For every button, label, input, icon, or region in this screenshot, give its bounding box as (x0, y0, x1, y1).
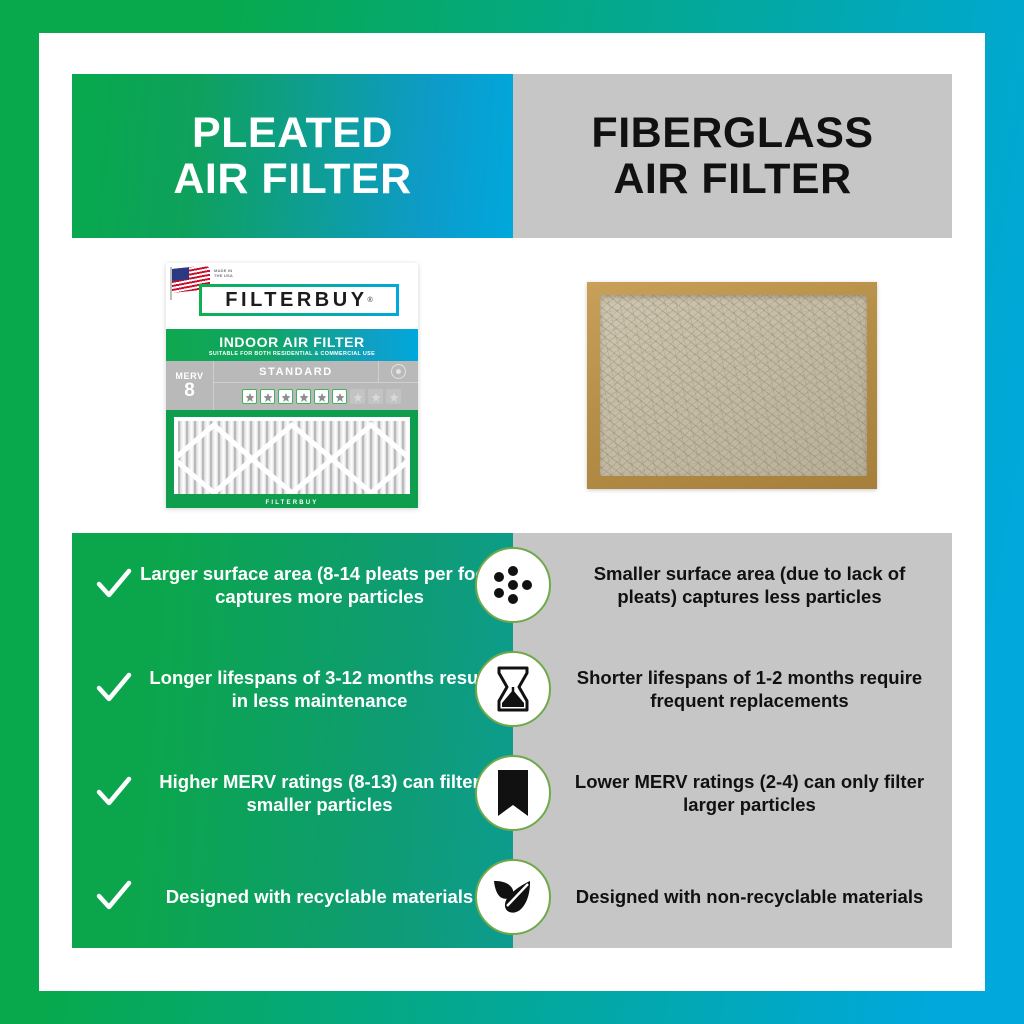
table-row: Designed with recyclable materials Desig… (72, 845, 952, 949)
row-4-right-text: Designed with non-recyclable materials (513, 885, 952, 908)
filterbuy-logo-box: FILTERBUY® (199, 284, 399, 316)
capability-icon-pet-dander (332, 389, 347, 404)
capability-icon-mold (278, 389, 293, 404)
grade-row: STANDARD (214, 361, 418, 383)
pleated-filter-header: MADE IN THE USA FILTERBUY® (166, 263, 418, 329)
pleated-product-cell: MADE IN THE USA FILTERBUY® INDOOR AIR FI… (72, 238, 512, 533)
capability-icon-allergen-disabled (386, 389, 401, 404)
check-icon (94, 669, 134, 709)
header-fiberglass: FIBERGLASS AIR FILTER (513, 74, 952, 238)
band-sub-text: SUITABLE FOR BOTH RESIDENTIAL & COMMERCI… (209, 351, 375, 357)
filterbuy-logo-text: FILTERBUY (225, 289, 367, 312)
header-band: PLEATED AIR FILTER FIBERGLASS AIR FILTER (72, 74, 952, 238)
check-icon (94, 565, 134, 605)
product-image-band: MADE IN THE USA FILTERBUY® INDOOR AIR FI… (72, 238, 952, 533)
capability-icon-dust (242, 389, 257, 404)
capability-icon-virus-disabled (368, 389, 383, 404)
merv-badge: MERV 8 (166, 361, 214, 410)
row-2-left-text: Longer lifespans of 3-12 months result i… (140, 666, 499, 713)
fiberglass-media-texture (600, 295, 867, 476)
pleated-filter-image: MADE IN THE USA FILTERBUY® INDOOR AIR FI… (166, 263, 418, 508)
capability-icon-smoke (314, 389, 329, 404)
row-2-left-cell: Longer lifespans of 3-12 months result i… (72, 666, 513, 713)
grade-label: STANDARD (214, 366, 378, 378)
row-3-left-cell: Higher MERV ratings (8-13) can filter sm… (72, 770, 513, 817)
comparison-table: Larger surface area (8-14 pleats per foo… (72, 533, 952, 948)
capability-icon-row (214, 383, 418, 410)
bookmark-icon-glyph (482, 762, 544, 824)
trademark-symbol: ® (368, 297, 373, 304)
hourglass-icon-glyph (482, 658, 544, 720)
header-fiberglass-title: FIBERGLASS AIR FILTER (591, 110, 873, 203)
header-fiberglass-line2: AIR FILTER (591, 156, 873, 202)
check-icon (94, 877, 134, 917)
merv-value: 8 (184, 381, 195, 400)
media-bottom-brand: FILTERBUY (166, 500, 418, 506)
bookmark-icon (475, 755, 551, 831)
band-main-text: INDOOR AIR FILTER (219, 334, 365, 350)
content-canvas: PLEATED AIR FILTER FIBERGLASS AIR FILTER (39, 33, 985, 991)
fiberglass-product-cell (512, 238, 952, 533)
header-pleated: PLEATED AIR FILTER (72, 74, 513, 238)
hourglass-icon (475, 651, 551, 727)
row-4-left-cell: Designed with recyclable materials (72, 877, 513, 917)
check-icon (94, 773, 134, 813)
table-row: Longer lifespans of 3-12 months result i… (72, 637, 952, 741)
spec-right-column: STANDARD (214, 361, 418, 410)
table-row: Larger surface area (8-14 pleats per foo… (72, 533, 952, 637)
capability-icon-bacteria (296, 389, 311, 404)
table-row: Higher MERV ratings (8-13) can filter sm… (72, 741, 952, 845)
row-1-left-cell: Larger surface area (8-14 pleats per foo… (72, 562, 513, 609)
seal-icon (391, 364, 406, 379)
capability-icon-odor-disabled (350, 389, 365, 404)
spec-strip: MERV 8 STANDARD (166, 361, 418, 410)
row-1-left-text: Larger surface area (8-14 pleats per foo… (140, 562, 499, 609)
indoor-air-filter-band: INDOOR AIR FILTER SUITABLE FOR BOTH RESI… (166, 329, 418, 361)
flag-canton (172, 267, 189, 281)
pleated-media-texture (174, 417, 410, 494)
wire-support-grid (174, 417, 410, 494)
header-pleated-line1: PLEATED (192, 109, 393, 157)
infographic-root: PLEATED AIR FILTER FIBERGLASS AIR FILTER (0, 0, 1024, 1024)
header-fiberglass-line1: FIBERGLASS (591, 109, 873, 157)
fiberglass-filter-image (587, 282, 877, 489)
certification-seal (378, 361, 418, 382)
row-1-right-text: Smaller surface area (due to lack of ple… (513, 562, 952, 609)
header-pleated-title: PLEATED AIR FILTER (173, 110, 411, 203)
leaf-icon (475, 859, 551, 935)
row-3-left-text: Higher MERV ratings (8-13) can filter sm… (140, 770, 499, 817)
made-in-line2: THE USA (214, 273, 233, 278)
row-4-left-text: Designed with recyclable materials (140, 885, 499, 908)
particles-icon-glyph (482, 554, 544, 616)
leaf-icon-glyph (482, 866, 544, 928)
capability-icon-pollen (260, 389, 275, 404)
particles-icon (475, 547, 551, 623)
made-in-usa-label: MADE IN THE USA (214, 268, 233, 278)
row-3-right-text: Lower MERV ratings (2-4) can only filter… (513, 770, 952, 817)
header-pleated-line2: AIR FILTER (173, 156, 411, 202)
pleated-media-panel: FILTERBUY (166, 410, 418, 508)
row-2-right-text: Shorter lifespans of 1-2 months require … (513, 666, 952, 713)
